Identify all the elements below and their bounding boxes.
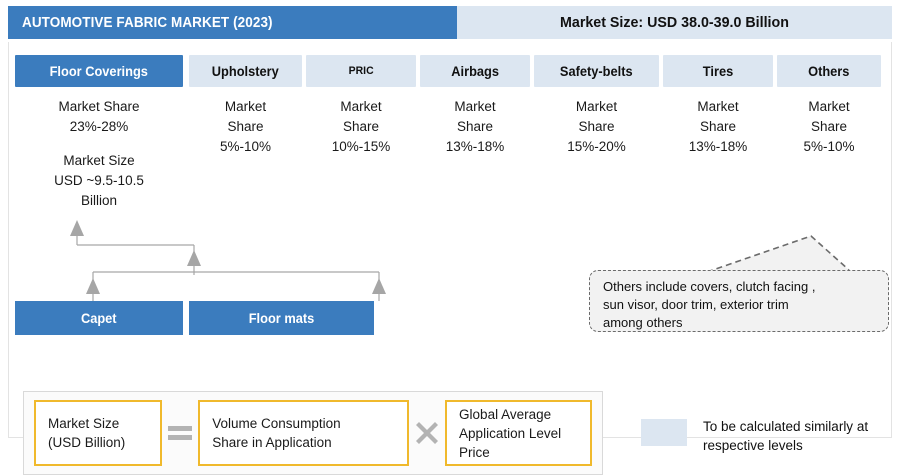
- formula-panel: Market Size (USD Billion) Volume Consump…: [23, 391, 603, 475]
- market-size-title: Market Size: [15, 151, 183, 171]
- arrow-head-up: [372, 278, 386, 294]
- callout-line2: sun visor, door trim, exterior trim: [603, 296, 877, 314]
- category-header-floor-coverings[interactable]: Floor Coverings: [15, 55, 183, 87]
- market-size-banner: Market Size: USD 38.0-39.0 Billion: [457, 6, 892, 39]
- market-share-block: Market Share 23%-28%: [15, 97, 183, 137]
- category-label: Tires: [703, 64, 733, 79]
- category-body-upholstery: Market Share 5%-10%: [189, 97, 302, 157]
- category-header-airbags[interactable]: Airbags: [420, 55, 530, 87]
- market-share-value: 5%-10%: [189, 137, 302, 157]
- category-tires[interactable]: Tires Market Share 13%-18%: [663, 55, 773, 157]
- title-bar: AUTOMOTIVE FABRIC MARKET (2023) Market S…: [8, 6, 892, 39]
- market-share-title-line2: Share: [663, 117, 773, 137]
- category-body-airbags: Market Share 13%-18%: [420, 97, 530, 157]
- category-header-tires[interactable]: Tires: [663, 55, 773, 87]
- arrow-head-up: [187, 250, 201, 266]
- category-header-safety-belts[interactable]: Safety-belts: [534, 55, 659, 87]
- arrow-head-up: [70, 220, 84, 236]
- category-header-others[interactable]: Others: [777, 55, 881, 87]
- formula-factor2-line2: Application Level: [459, 426, 561, 441]
- market-share-block: Market Share 10%-15%: [306, 97, 416, 157]
- infographic-root: AUTOMOTIVE FABRIC MARKET (2023) Market S…: [0, 0, 900, 446]
- multiply-icon: [409, 419, 445, 447]
- callout-line1: Others include covers, clutch facing ,: [603, 278, 877, 296]
- category-pric[interactable]: PRIC Market Share 10%-15%: [306, 55, 416, 157]
- legend-text: To be calculated similarly at respective…: [703, 417, 868, 455]
- market-share-title-line2: Share: [534, 117, 659, 137]
- formula-factor2-line1: Global Average: [459, 407, 551, 422]
- legend-swatch: [641, 419, 687, 446]
- formula-factor2-line3: Price: [459, 445, 490, 460]
- market-share-title: Market Share: [15, 97, 183, 117]
- legend: To be calculated similarly at respective…: [641, 417, 868, 455]
- category-body-tires: Market Share 13%-18%: [663, 97, 773, 157]
- category-airbags[interactable]: Airbags Market Share 13%-18%: [420, 55, 530, 157]
- equals-icon: [162, 423, 198, 443]
- subnode-label: Floor mats: [249, 311, 315, 326]
- category-label: Upholstery: [212, 64, 279, 79]
- market-share-value: 23%-28%: [15, 117, 183, 137]
- formula-result-box: Market Size (USD Billion): [34, 400, 162, 466]
- formula-factor2-box: Global Average Application Level Price: [445, 400, 592, 466]
- category-floor-coverings[interactable]: Floor Coverings Market Share 23%-28% Mar…: [15, 55, 183, 211]
- category-label: Others: [808, 64, 849, 79]
- market-share-block: Market Share 5%-10%: [189, 97, 302, 157]
- market-share-value: 13%-18%: [663, 137, 773, 157]
- market-share-block: Market Share 15%-20%: [534, 97, 659, 157]
- content-frame: Floor Coverings Market Share 23%-28% Mar…: [8, 42, 892, 438]
- market-share-title-line2: Share: [777, 117, 881, 137]
- others-callout: Others include covers, clutch facing , s…: [589, 270, 889, 332]
- legend-text-line1: To be calculated similarly at: [703, 417, 868, 436]
- market-size-label: Market Size: USD 38.0-39.0 Billion: [560, 14, 789, 31]
- market-share-title-line1: Market: [189, 97, 302, 117]
- formula-factor1-line1: Volume Consumption: [212, 416, 340, 431]
- market-share-block: Market Share 13%-18%: [663, 97, 773, 157]
- market-share-title-line2: Share: [420, 117, 530, 137]
- market-share-block: Market Share 5%-10%: [777, 97, 881, 157]
- subnode-floor-mats[interactable]: Floor mats: [189, 301, 374, 335]
- market-share-value: 10%-15%: [306, 137, 416, 157]
- market-share-title-line2: Share: [306, 117, 416, 137]
- category-label: Floor Coverings: [50, 64, 148, 79]
- market-share-title-line1: Market: [420, 97, 530, 117]
- formula-result-line1: Market Size: [48, 416, 119, 431]
- market-share-value: 5%-10%: [777, 137, 881, 157]
- category-body-others: Market Share 5%-10%: [777, 97, 881, 157]
- arrow-head-up: [86, 278, 100, 294]
- formula-result-line2: (USD Billion): [48, 435, 125, 450]
- market-size-block: Market Size USD ~9.5-10.5 Billion: [15, 151, 183, 211]
- category-upholstery[interactable]: Upholstery Market Share 5%-10%: [189, 55, 302, 157]
- market-share-title-line1: Market: [534, 97, 659, 117]
- category-others[interactable]: Others Market Share 5%-10%: [777, 55, 881, 157]
- category-label: PRIC: [349, 65, 374, 77]
- market-share-block: Market Share 13%-18%: [420, 97, 530, 157]
- subnode-capet[interactable]: Capet: [15, 301, 183, 335]
- category-header-upholstery[interactable]: Upholstery: [189, 55, 302, 87]
- market-share-title-line1: Market: [777, 97, 881, 117]
- formula-factor1-box: Volume Consumption Share in Application: [198, 400, 408, 466]
- market-title-banner: AUTOMOTIVE FABRIC MARKET (2023): [8, 6, 457, 39]
- category-body-safety-belts: Market Share 15%-20%: [534, 97, 659, 157]
- formula-factor1-line2: Share in Application: [212, 435, 331, 450]
- callout-line3: among others: [603, 314, 877, 332]
- market-share-title-line1: Market: [306, 97, 416, 117]
- market-share-title-line2: Share: [189, 117, 302, 137]
- subnode-label: Capet: [81, 311, 117, 326]
- market-share-title-line1: Market: [663, 97, 773, 117]
- callout-tail: [699, 228, 859, 274]
- market-share-value: 15%-20%: [534, 137, 659, 157]
- category-label: Airbags: [451, 64, 499, 79]
- market-size-value-line1: USD ~9.5-10.5: [15, 171, 183, 191]
- category-body-pric: Market Share 10%-15%: [306, 97, 416, 157]
- category-safety-belts[interactable]: Safety-belts Market Share 15%-20%: [534, 55, 659, 157]
- market-size-value-line2: Billion: [15, 191, 183, 211]
- category-body-floor-coverings: Market Share 23%-28% Market Size USD ~9.…: [15, 97, 183, 211]
- page-title: AUTOMOTIVE FABRIC MARKET (2023): [22, 15, 273, 31]
- category-label: Safety-belts: [560, 64, 633, 79]
- category-header-pric[interactable]: PRIC: [306, 55, 416, 87]
- market-share-value: 13%-18%: [420, 137, 530, 157]
